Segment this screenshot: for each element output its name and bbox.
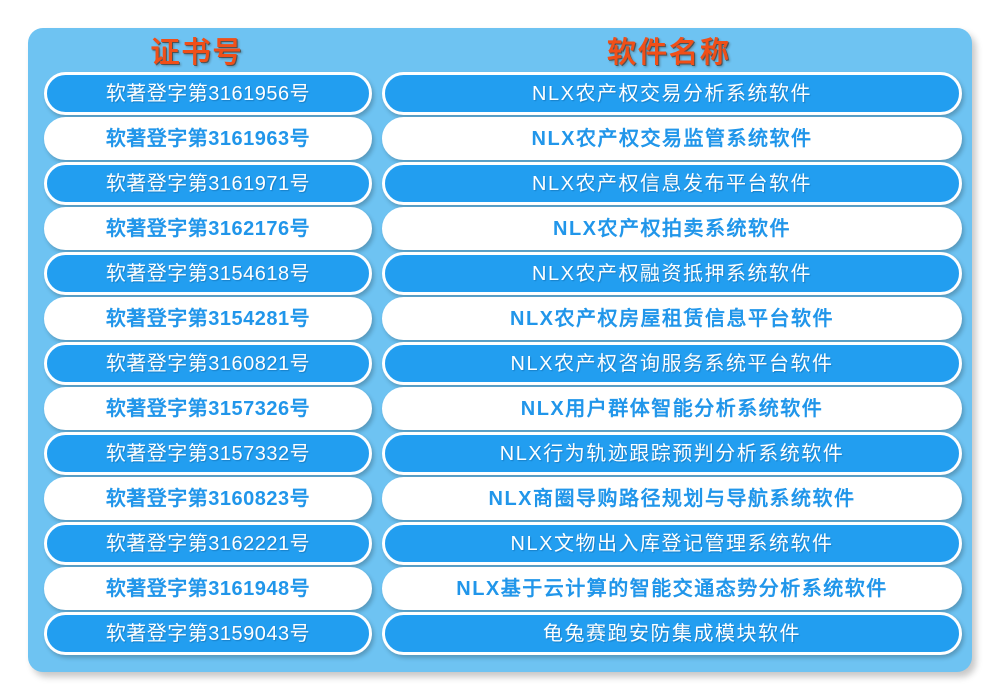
table-row: 软著登字第3159043号龟兔赛跑安防集成模块软件 bbox=[28, 612, 972, 655]
certificate-number-cell[interactable]: 软著登字第3162176号 bbox=[44, 207, 372, 250]
software-name-cell[interactable]: NLX文物出入库登记管理系统软件 bbox=[382, 522, 962, 565]
software-name-text: 龟兔赛跑安防集成模块软件 bbox=[543, 624, 801, 644]
software-name-text: NLX农产权拍卖系统软件 bbox=[553, 219, 791, 239]
certificate-number-text: 软著登字第3161948号 bbox=[106, 579, 310, 599]
certificate-number-text: 软著登字第3159043号 bbox=[106, 624, 310, 644]
certificate-number-cell[interactable]: 软著登字第3154618号 bbox=[44, 252, 372, 295]
table-row: 软著登字第3157332号NLX行为轨迹跟踪预判分析系统软件 bbox=[28, 432, 972, 475]
software-name-text: NLX基于云计算的智能交通态势分析系统软件 bbox=[456, 579, 888, 599]
certificate-number-text: 软著登字第3162176号 bbox=[106, 219, 310, 239]
software-name-text: NLX行为轨迹跟踪预判分析系统软件 bbox=[500, 444, 844, 464]
certificate-number-cell[interactable]: 软著登字第3161948号 bbox=[44, 567, 372, 610]
software-name-text: NLX农产权房屋租赁信息平台软件 bbox=[510, 309, 834, 329]
software-name-cell[interactable]: NLX农产权交易监管系统软件 bbox=[382, 117, 962, 160]
table-row: 软著登字第3154281号NLX农产权房屋租赁信息平台软件 bbox=[28, 297, 972, 340]
table-row: 软著登字第3161971号NLX农产权信息发布平台软件 bbox=[28, 162, 972, 205]
table-row: 软著登字第3160823号NLX商圈导购路径规划与导航系统软件 bbox=[28, 477, 972, 520]
certificate-number-text: 软著登字第3157326号 bbox=[106, 399, 310, 419]
software-name-cell[interactable]: NLX农产权信息发布平台软件 bbox=[382, 162, 962, 205]
certificate-number-cell[interactable]: 软著登字第3162221号 bbox=[44, 522, 372, 565]
table-body: 软著登字第3161956号NLX农产权交易分析系统软件软著登字第3161963号… bbox=[28, 72, 972, 657]
certificate-number-cell[interactable]: 软著登字第3154281号 bbox=[44, 297, 372, 340]
software-name-cell[interactable]: NLX基于云计算的智能交通态势分析系统软件 bbox=[382, 567, 962, 610]
certificate-number-cell[interactable]: 软著登字第3157332号 bbox=[44, 432, 372, 475]
certificate-number-cell[interactable]: 软著登字第3161971号 bbox=[44, 162, 372, 205]
software-name-text: NLX农产权咨询服务系统平台软件 bbox=[511, 354, 834, 374]
column-header-software-name: 软件名称 bbox=[366, 28, 972, 72]
software-name-cell[interactable]: NLX行为轨迹跟踪预判分析系统软件 bbox=[382, 432, 962, 475]
table-header-row: 证书号 软件名称 bbox=[28, 28, 972, 72]
certificate-number-text: 软著登字第3154281号 bbox=[106, 309, 310, 329]
table-row: 软著登字第3162176号NLX农产权拍卖系统软件 bbox=[28, 207, 972, 250]
certificate-number-text: 软著登字第3160823号 bbox=[106, 489, 310, 509]
table-row: 软著登字第3162221号NLX文物出入库登记管理系统软件 bbox=[28, 522, 972, 565]
certificate-number-text: 软著登字第3160821号 bbox=[106, 354, 310, 374]
column-header-certificate-number: 证书号 bbox=[28, 28, 366, 72]
software-name-text: NLX农产权交易分析系统软件 bbox=[532, 84, 812, 104]
software-name-cell[interactable]: 龟兔赛跑安防集成模块软件 bbox=[382, 612, 962, 655]
table-row: 软著登字第3161948号NLX基于云计算的智能交通态势分析系统软件 bbox=[28, 567, 972, 610]
certificate-number-text: 软著登字第3161956号 bbox=[106, 84, 310, 104]
software-name-text: NLX文物出入库登记管理系统软件 bbox=[511, 534, 834, 554]
certificate-number-text: 软著登字第3161963号 bbox=[106, 129, 310, 149]
certificate-table-panel: 证书号 软件名称 软著登字第3161956号NLX农产权交易分析系统软件软著登字… bbox=[28, 28, 972, 672]
certificate-number-cell[interactable]: 软著登字第3157326号 bbox=[44, 387, 372, 430]
table-row: 软著登字第3160821号NLX农产权咨询服务系统平台软件 bbox=[28, 342, 972, 385]
software-name-cell[interactable]: NLX农产权房屋租赁信息平台软件 bbox=[382, 297, 962, 340]
software-name-cell[interactable]: NLX用户群体智能分析系统软件 bbox=[382, 387, 962, 430]
table-row: 软著登字第3157326号NLX用户群体智能分析系统软件 bbox=[28, 387, 972, 430]
certificate-number-text: 软著登字第3161971号 bbox=[106, 174, 310, 194]
certificate-number-cell[interactable]: 软著登字第3159043号 bbox=[44, 612, 372, 655]
software-name-cell[interactable]: NLX农产权交易分析系统软件 bbox=[382, 72, 962, 115]
page-root: 证书号 软件名称 软著登字第3161956号NLX农产权交易分析系统软件软著登字… bbox=[0, 0, 1000, 693]
software-name-cell[interactable]: NLX商圈导购路径规划与导航系统软件 bbox=[382, 477, 962, 520]
certificate-number-cell[interactable]: 软著登字第3161956号 bbox=[44, 72, 372, 115]
software-name-text: NLX商圈导购路径规划与导航系统软件 bbox=[489, 489, 856, 509]
certificate-number-cell[interactable]: 软著登字第3160823号 bbox=[44, 477, 372, 520]
table-row: 软著登字第3161956号NLX农产权交易分析系统软件 bbox=[28, 72, 972, 115]
certificate-number-cell[interactable]: 软著登字第3160821号 bbox=[44, 342, 372, 385]
table-row: 软著登字第3154618号NLX农产权融资抵押系统软件 bbox=[28, 252, 972, 295]
certificate-number-text: 软著登字第3154618号 bbox=[106, 264, 310, 284]
certificate-number-text: 软著登字第3157332号 bbox=[106, 444, 310, 464]
software-name-cell[interactable]: NLX农产权咨询服务系统平台软件 bbox=[382, 342, 962, 385]
software-name-text: NLX农产权交易监管系统软件 bbox=[532, 129, 813, 149]
certificate-number-text: 软著登字第3162221号 bbox=[106, 534, 310, 554]
software-name-cell[interactable]: NLX农产权拍卖系统软件 bbox=[382, 207, 962, 250]
software-name-text: NLX用户群体智能分析系统软件 bbox=[521, 399, 824, 419]
software-name-text: NLX农产权信息发布平台软件 bbox=[532, 174, 812, 194]
certificate-number-cell[interactable]: 软著登字第3161963号 bbox=[44, 117, 372, 160]
software-name-text: NLX农产权融资抵押系统软件 bbox=[532, 264, 812, 284]
software-name-cell[interactable]: NLX农产权融资抵押系统软件 bbox=[382, 252, 962, 295]
table-row: 软著登字第3161963号NLX农产权交易监管系统软件 bbox=[28, 117, 972, 160]
